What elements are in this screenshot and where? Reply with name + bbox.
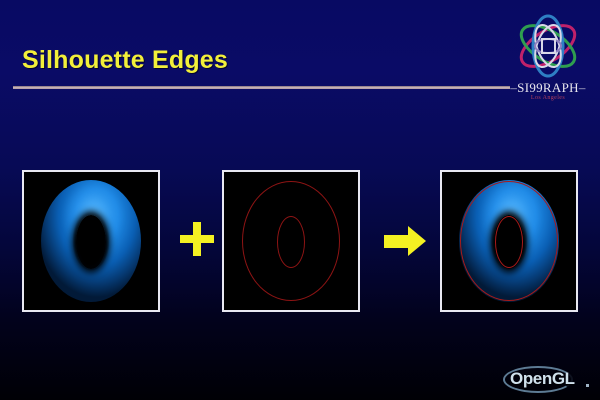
siggraph-logo: –SI99RAPH– Los Angeles xyxy=(500,12,596,104)
arrow-head xyxy=(408,226,426,256)
opengl-wordmark: OpenGL xyxy=(510,369,575,389)
slide-canvas: Silhouette Edges –SI99RAPH– Los Angeles xyxy=(0,0,600,400)
plus-bar-vertical xyxy=(193,222,201,256)
siggraph-dash-right: – xyxy=(579,80,586,95)
panel-combined-result xyxy=(440,170,578,312)
opengl-logo: OpenGL xyxy=(503,364,595,396)
plus-operator-icon xyxy=(180,222,214,256)
torus-vignette xyxy=(24,172,158,310)
siggraph-rings-icon xyxy=(500,12,596,80)
siggraph-wordmark-text: SI99RAPH xyxy=(517,80,579,95)
opengl-trademark-dot xyxy=(586,384,589,387)
panel-silhouette-edges xyxy=(222,170,360,312)
title-divider xyxy=(13,86,510,89)
siggraph-wordmark: –SI99RAPH– xyxy=(500,80,596,96)
page-title: Silhouette Edges xyxy=(22,46,228,75)
arrow-shaft xyxy=(384,235,410,248)
panel-shaded-torus xyxy=(22,170,160,312)
siggraph-location: Los Angeles xyxy=(500,95,596,101)
torus-render-combined xyxy=(442,172,576,310)
silhouette-inner-contour xyxy=(277,216,305,268)
silhouette-inner-contour xyxy=(495,216,523,268)
torus-render-shaded xyxy=(24,172,158,310)
torus-render-edges xyxy=(224,172,358,310)
arrow-right-icon xyxy=(384,226,426,256)
